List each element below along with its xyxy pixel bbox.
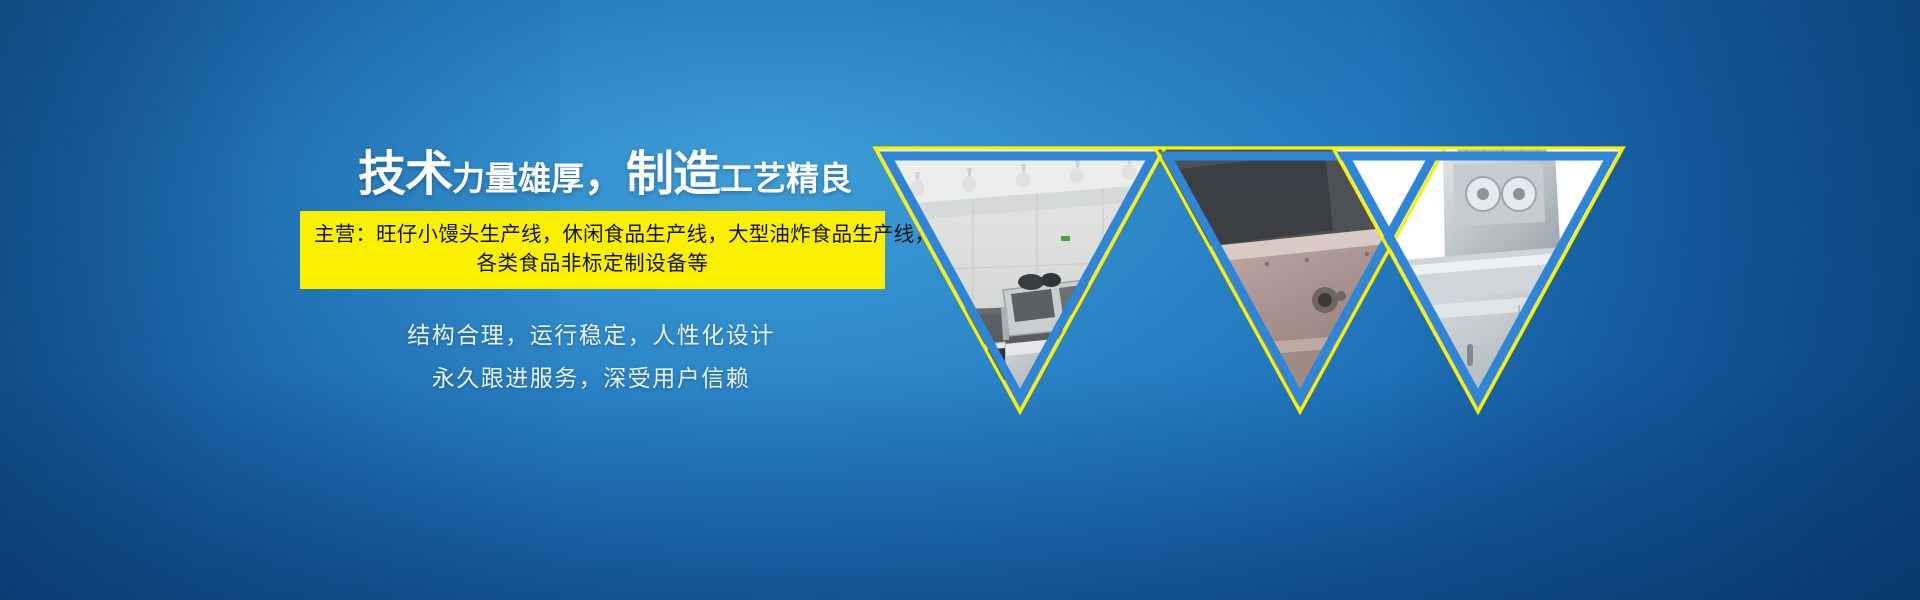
highlight-box: 主营：旺仔小馒头生产线，休闲食品生产线，大型油炸食品生产线， 各类食品非标定制设… bbox=[300, 211, 885, 289]
headline: 技术力量雄厚，制造工艺精良 bbox=[300, 150, 910, 198]
headline-seg-4: 制造 bbox=[626, 146, 720, 202]
subtitle-group: 结构合理，运行稳定，人性化设计 永久跟进服务，深受用户信赖 bbox=[300, 315, 910, 400]
banner-copy: 技术力量雄厚，制造工艺精良 主营：旺仔小馒头生产线，休闲食品生产线，大型油炸食品… bbox=[300, 150, 910, 400]
subtitle-line-1: 结构合理，运行稳定，人性化设计 bbox=[300, 315, 882, 358]
highlight-line-1: 主营：旺仔小馒头生产线，休闲食品生产线，大型油炸食品生产线， bbox=[314, 220, 871, 249]
headline-seg-2: 力量雄厚 bbox=[452, 159, 584, 198]
subtitle-line-2: 永久跟进服务，深受用户信赖 bbox=[300, 358, 882, 401]
headline-seg-5: 工艺精良 bbox=[720, 159, 852, 198]
headline-seg-1: 技术 bbox=[358, 146, 452, 202]
triangle-photo-gallery bbox=[855, 112, 1645, 442]
highlight-line-2: 各类食品非标定制设备等 bbox=[314, 249, 871, 278]
promo-banner: 技术力量雄厚，制造工艺精良 主营：旺仔小馒头生产线，休闲食品生产线，大型油炸食品… bbox=[0, 0, 1920, 600]
headline-seg-3: ， bbox=[584, 151, 626, 200]
